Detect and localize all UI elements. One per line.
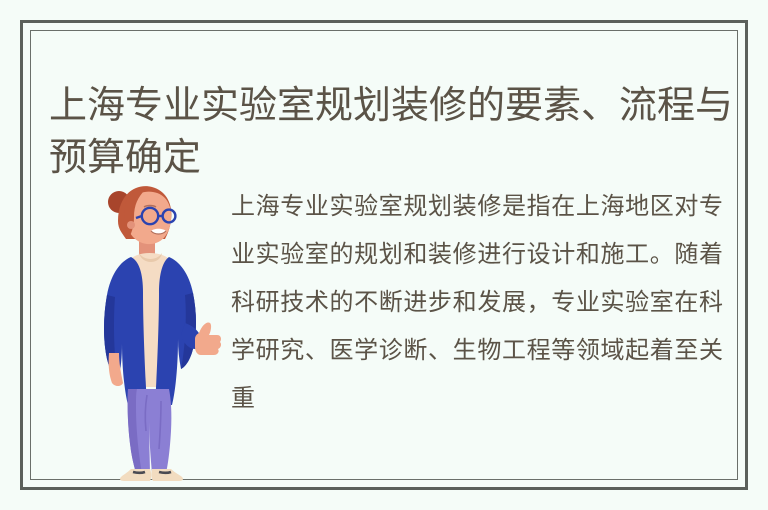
article-inner-frame: 上海专业实验室规划装修的要素、流程与预算确定: [30, 30, 738, 480]
article-card: 上海专业实验室规划装修的要素、流程与预算确定: [20, 20, 748, 490]
article-body-text: 上海专业实验室规划装修是指在上海地区对专业实验室的规划和装修进行设计和施工。随着…: [231, 183, 723, 423]
person-illustration-svg: [81, 173, 221, 481]
person-thumbs-up-illustration: [81, 173, 221, 481]
article-content: 上海专业实验室规划装修的要素、流程与预算确定: [31, 31, 737, 479]
article-body-region: 上海专业实验室规划装修是指在上海地区对专业实验室的规划和装修进行设计和施工。随着…: [31, 159, 737, 479]
shoe-right-laces: [159, 472, 171, 473]
shoe-left: [120, 469, 151, 481]
thumbs-up-icon: [195, 322, 221, 355]
ear: [127, 221, 135, 229]
shoe-left-laces: [133, 472, 145, 473]
shoe-right: [151, 469, 183, 481]
